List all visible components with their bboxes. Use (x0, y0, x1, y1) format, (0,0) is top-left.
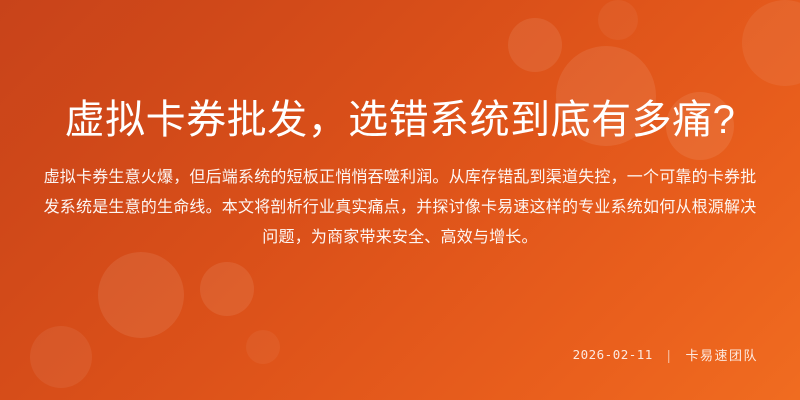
footer-divider: | (667, 348, 672, 362)
author-team: 卡易速团队 (685, 345, 758, 364)
publish-date: 2026-02-11 (573, 347, 653, 362)
banner-content: 虚拟卡券批发，选错系统到底有多痛? 虚拟卡券生意火爆，但后端系统的短板正悄悄吞噬… (0, 0, 800, 400)
layout-spacer (0, 253, 800, 345)
hero-banner: 虚拟卡券批发，选错系统到底有多痛? 虚拟卡券生意火爆，但后端系统的短板正悄悄吞噬… (0, 0, 800, 400)
page-subtitle: 虚拟卡券生意火爆，但后端系统的短板正悄悄吞噬利润。从库存错乱到渠道失控，一个可靠… (36, 163, 764, 253)
page-title: 虚拟卡券批发，选错系统到底有多痛? (34, 97, 766, 143)
subtitle-container: 虚拟卡券生意火爆，但后端系统的短板正悄悄吞噬利润。从库存错乱到渠道失控，一个可靠… (0, 163, 800, 253)
title-container: 虚拟卡券批发，选错系统到底有多痛? (0, 97, 800, 143)
banner-footer: 2026-02-11 | 卡易速团队 (0, 345, 800, 400)
